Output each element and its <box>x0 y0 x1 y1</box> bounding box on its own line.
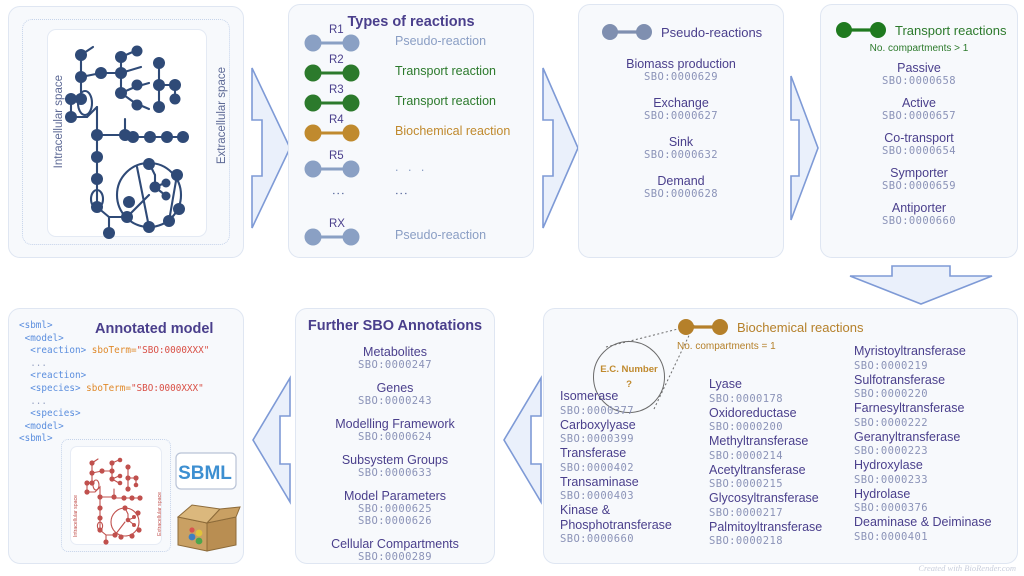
biochemical-reactions-header: Biochemical reactions <box>677 318 863 336</box>
biochemical-entry: PalmitoyltransferaseSBO:0000218 <box>709 520 869 549</box>
further-sbo-sbo-id: SBO:0000626 <box>296 515 494 527</box>
transport-reaction-term: Co-transport <box>821 131 1017 145</box>
biochemical-sbo-id: SBO:0000218 <box>709 534 869 548</box>
reaction-row-rx: RXPseudo-reaction <box>303 225 523 249</box>
transport-reaction-sbo-id: SBO:0000654 <box>821 145 1017 157</box>
xml-token: <model> <box>19 333 64 344</box>
further-sbo-entry: GenesSBO:0000243 <box>296 381 494 407</box>
panel-transport-reactions: Transport reactions No. compartments > 1… <box>820 4 1018 258</box>
mini-label-extracellular: Extracellular space <box>157 492 163 536</box>
biochemical-term: Methyltransferase <box>709 434 869 449</box>
reaction-type-label-r3: Transport reaction <box>395 94 496 108</box>
further-sbo-title: Further SBO Annotations <box>296 318 494 334</box>
reaction-node-icon-r3: R3 <box>303 93 361 113</box>
xml-token: <sbml> <box>19 433 53 444</box>
transport-reaction-term: Passive <box>821 61 1017 75</box>
pseudo-reactions-header: Pseudo-reactions <box>601 23 762 41</box>
biochemical-column-2: LyaseSBO:0000178OxidoreductaseSBO:000020… <box>709 377 869 548</box>
biochemical-entry: CarboxylyaseSBO:0000399 <box>560 418 710 447</box>
biochemical-reactions-header-label: Biochemical reactions <box>737 320 863 335</box>
biochemical-entry: HydroxylaseSBO:0000233 <box>854 458 1019 487</box>
label-extracellular-space: Extracellular space <box>216 67 228 164</box>
reaction-node-icon-r4: R4 <box>303 123 361 143</box>
reaction-type-label-r1: Pseudo-reaction <box>395 34 486 48</box>
reaction-id-rx: RX <box>329 218 345 230</box>
reaction-row-r4: R4Biochemical reaction <box>303 121 523 145</box>
biochemical-sbo-id: SBO:0000214 <box>709 449 869 463</box>
transport-reaction-sbo-id: SBO:0000658 <box>821 75 1017 87</box>
biochemical-term: Oxidoreductase <box>709 406 869 421</box>
biochemical-sbo-id: SBO:0000200 <box>709 420 869 434</box>
types-of-reactions-title: Types of reactions <box>289 14 533 30</box>
panel-pseudo-reactions: Pseudo-reactions Biomass productionSBO:0… <box>578 4 784 258</box>
xml-token: "SBO:0000XXX" <box>137 345 210 356</box>
biochemical-sbo-id: SBO:0000403 <box>560 489 710 503</box>
reaction-row-r2: R2Transport reaction <box>303 61 523 85</box>
biochemical-entry: TransferaseSBO:0000402 <box>560 446 710 475</box>
transport-reaction-entry: Co-transportSBO:0000654 <box>821 131 1017 157</box>
transport-reaction-entry: AntiporterSBO:0000660 <box>821 201 1017 227</box>
annotated-model-title: Annotated model <box>95 321 213 337</box>
reaction-type-label-r5: . . . <box>395 160 427 174</box>
xml-token: sboTerm= <box>86 345 136 356</box>
biochemical-entry: Deaminase & DeiminaseSBO:0000401 <box>854 515 1019 544</box>
transport-reaction-sbo-id: SBO:0000657 <box>821 110 1017 122</box>
xml-token: <model> <box>19 421 64 432</box>
pseudo-reaction-entry: ExchangeSBO:0000627 <box>579 96 783 122</box>
reaction-type-label-rx: Pseudo-reaction <box>395 228 486 242</box>
biochemical-sbo-id: SBO:0000233 <box>854 473 1019 487</box>
biochemical-entry: FarnesyltransferaseSBO:0000222 <box>854 401 1019 430</box>
biochemical-entry: HydrolaseSBO:0000376 <box>854 487 1019 516</box>
biochemical-entry: MethyltransferaseSBO:0000214 <box>709 434 869 463</box>
reaction-node-icon-r1: R1 <box>303 33 361 53</box>
mini-label-intracellular: Intracellular space <box>73 495 79 537</box>
biochemical-entry: OxidoreductaseSBO:0000200 <box>709 406 869 435</box>
pseudo-reaction-term: Sink <box>579 135 783 149</box>
biochemical-term: Sulfotransferase <box>854 373 1019 388</box>
biochemical-sbo-id: SBO:0000376 <box>854 501 1019 515</box>
panel-types-of-reactions: Types of reactions R1Pseudo-reactionR2Tr… <box>288 4 534 258</box>
biochemical-term: Transaminase <box>560 475 710 490</box>
biochemical-entry: Kinase &PhosphotransferaseSBO:0000660 <box>560 503 710 546</box>
transport-reactions-list: PassiveSBO:0000658ActiveSBO:0000657Co-tr… <box>821 61 1017 236</box>
transport-reaction-term: Antiporter <box>821 201 1017 215</box>
pseudo-reaction-sbo-id: SBO:0000628 <box>579 188 783 200</box>
xml-token: ... <box>19 396 47 407</box>
reaction-id-r3: R3 <box>329 84 344 96</box>
package-box-icon <box>172 497 242 555</box>
biochemical-sbo-id: SBO:0000223 <box>854 444 1019 458</box>
biochemical-term: Transferase <box>560 446 710 461</box>
biochemical-term: Carboxylyase <box>560 418 710 433</box>
reaction-id-r1: R1 <box>329 24 344 36</box>
xml-token: <reaction> <box>19 345 86 356</box>
biochemical-entry: TransaminaseSBO:0000403 <box>560 475 710 504</box>
biochemical-term: Geranyltransferase <box>854 430 1019 445</box>
biochemical-sbo-id: SBO:0000399 <box>560 432 710 446</box>
biochemical-sbo-id: SBO:0000660 <box>560 532 710 546</box>
biochemical-reaction-node-icon <box>677 318 729 336</box>
transport-reactions-header: Transport reactions <box>835 21 1007 39</box>
further-sbo-sbo-id: SBO:0000247 <box>296 359 494 371</box>
biochemical-sbo-id: SBO:0000377 <box>560 404 710 418</box>
biochemical-entry: GeranyltransferaseSBO:0000223 <box>854 430 1019 459</box>
xml-token: sboTerm= <box>81 383 131 394</box>
pseudo-reaction-entry: Biomass productionSBO:0000629 <box>579 57 783 83</box>
pseudo-reaction-sbo-id: SBO:0000632 <box>579 149 783 161</box>
further-sbo-sbo-id: SBO:0000633 <box>296 467 494 479</box>
biochemical-column-3: MyristoyltransferaseSBO:0000219Sulfotran… <box>854 344 1019 544</box>
biochemical-entry: AcetyltransferaseSBO:0000215 <box>709 463 869 492</box>
biochemical-sbo-id: SBO:0000215 <box>709 477 869 491</box>
biochemical-term: Palmitoyltransferase <box>709 520 869 535</box>
label-intracellular-space: Intracellular space <box>53 75 65 168</box>
biochemical-sbo-id: SBO:0000178 <box>709 392 869 406</box>
vertical-ellipsis-labels: ⋮ <box>394 187 409 201</box>
panel-biochemical-reactions: E.C. Number ? Biochemical reactions No. … <box>543 308 1018 564</box>
reaction-row-r5: R5. . . <box>303 157 523 181</box>
transport-reaction-term: Active <box>821 96 1017 110</box>
reaction-node-icon-rx: RX <box>303 227 361 247</box>
sbml-code-block: <sbml> <model> <reaction> sboTerm="SBO:0… <box>19 320 209 446</box>
further-sbo-term: Cellular Compartments <box>296 537 494 551</box>
further-sbo-term: Genes <box>296 381 494 395</box>
metabolic-network-graph <box>9 7 245 259</box>
vertical-ellipsis-glyphs: ⋮ <box>331 187 346 201</box>
pseudo-reactions-list: Biomass productionSBO:0000629ExchangeSBO… <box>579 57 783 213</box>
biochemical-entry: LyaseSBO:0000178 <box>709 377 869 406</box>
biochemical-term: Lyase <box>709 377 869 392</box>
transport-reaction-entry: SymporterSBO:0000659 <box>821 166 1017 192</box>
xml-token: <species> <box>19 408 81 419</box>
transport-reaction-term: Symporter <box>821 166 1017 180</box>
further-sbo-list: MetabolitesSBO:0000247GenesSBO:0000243Mo… <box>296 345 494 573</box>
biochemical-entry: GlycosyltransferaseSBO:0000217 <box>709 491 869 520</box>
diagram-canvas: Intracellular space Extracellular space … <box>0 0 1024 576</box>
panel-further-sbo-annotations: Further SBO Annotations MetabolitesSBO:0… <box>295 308 495 564</box>
biochemical-term: Kinase & <box>560 503 710 518</box>
reaction-type-label-r2: Transport reaction <box>395 64 496 78</box>
transport-reactions-header-label: Transport reactions <box>895 23 1007 38</box>
reaction-id-r5: R5 <box>329 150 344 162</box>
reaction-type-label-r4: Biochemical reaction <box>395 124 510 138</box>
biorender-watermark: Created with BioRender.com <box>918 563 1016 573</box>
further-sbo-sbo-id: SBO:0000625 <box>296 503 494 515</box>
biochemical-term: Hydroxylase <box>854 458 1019 473</box>
biochemical-term: Myristoyltransferase <box>854 344 1019 359</box>
pseudo-reaction-term: Biomass production <box>579 57 783 71</box>
arrow-types-to-pseudo <box>540 58 580 238</box>
pseudo-reactions-header-label: Pseudo-reactions <box>661 25 762 40</box>
arrow-biochemical-to-further <box>500 372 544 508</box>
further-sbo-entry: Subsystem GroupsSBO:0000633 <box>296 453 494 479</box>
biochemical-compartment-note: No. compartments = 1 <box>677 341 776 352</box>
sbml-logo-text: SBML <box>178 463 232 484</box>
transport-reaction-entry: PassiveSBO:0000658 <box>821 61 1017 87</box>
biochemical-term: Farnesyltransferase <box>854 401 1019 416</box>
further-sbo-term: Model Parameters <box>296 489 494 503</box>
transport-reaction-sbo-id: SBO:0000659 <box>821 180 1017 192</box>
xml-token: <reaction> <box>19 370 86 381</box>
arrow-pseudo-to-transport <box>788 58 820 238</box>
biochemical-term: Isomerase <box>560 389 710 404</box>
further-sbo-term: Subsystem Groups <box>296 453 494 467</box>
panel-annotated-model: <sbml> <model> <reaction> sboTerm="SBO:0… <box>8 308 244 564</box>
biochemical-term: Acetyltransferase <box>709 463 869 478</box>
pseudo-reaction-entry: SinkSBO:0000632 <box>579 135 783 161</box>
biochemical-term: Deaminase & Deiminase <box>854 515 1019 530</box>
reaction-node-icon-r5: R5 <box>303 159 361 179</box>
xml-token: <sbml> <box>19 320 53 331</box>
xml-token: <species> <box>19 383 81 394</box>
further-sbo-sbo-id: SBO:0000243 <box>296 395 494 407</box>
reaction-id-r4: R4 <box>329 114 344 126</box>
biochemical-term: Hydrolase <box>854 487 1019 502</box>
xml-token: ... <box>19 358 47 369</box>
pseudo-reaction-term: Exchange <box>579 96 783 110</box>
further-sbo-term: Modelling Framework <box>296 417 494 431</box>
further-sbo-entry: Modelling FrameworkSBO:0000624 <box>296 417 494 443</box>
pseudo-reaction-sbo-id: SBO:0000629 <box>579 71 783 83</box>
mini-metabolic-network-graph <box>70 446 162 545</box>
biochemical-sbo-id: SBO:0000222 <box>854 416 1019 430</box>
biochemical-sbo-id: SBO:0000217 <box>709 506 869 520</box>
ec-number-label: E.C. Number <box>593 364 665 375</box>
pseudo-reaction-term: Demand <box>579 174 783 188</box>
pseudo-reaction-node-icon <box>601 23 653 41</box>
arrow-network-to-types <box>248 58 292 238</box>
biochemical-sbo-id: SBO:0000219 <box>854 359 1019 373</box>
biochemical-entry: IsomeraseSBO:0000377 <box>560 389 710 418</box>
biochemical-column-1: IsomeraseSBO:0000377CarboxylyaseSBO:0000… <box>560 389 710 546</box>
arrow-transport-to-biochemical <box>840 262 1000 308</box>
reaction-id-r2: R2 <box>329 54 344 66</box>
further-sbo-entry: Cellular CompartmentsSBO:0000289 <box>296 537 494 563</box>
panel-metabolic-network: Intracellular space Extracellular space <box>8 6 244 258</box>
sbml-logo-icon: SBML <box>175 452 237 490</box>
reaction-node-icon-r2: R2 <box>303 63 361 83</box>
biochemical-sbo-id: SBO:0000220 <box>854 387 1019 401</box>
biochemical-term: Glycosyltransferase <box>709 491 869 506</box>
xml-token: "SBO:0000XXX" <box>131 383 204 394</box>
biochemical-term: Phosphotransferase <box>560 518 710 533</box>
arrow-further-to-annotated-model <box>249 372 293 508</box>
pseudo-reaction-sbo-id: SBO:0000627 <box>579 110 783 122</box>
biochemical-sbo-id: SBO:0000402 <box>560 461 710 475</box>
transport-reaction-sbo-id: SBO:0000660 <box>821 215 1017 227</box>
biochemical-entry: SulfotransferaseSBO:0000220 <box>854 373 1019 402</box>
further-sbo-sbo-id: SBO:0000624 <box>296 431 494 443</box>
transport-reaction-entry: ActiveSBO:0000657 <box>821 96 1017 122</box>
further-sbo-entry: Model ParametersSBO:0000625SBO:0000626 <box>296 489 494 527</box>
transport-compartment-note: No. compartments > 1 <box>821 43 1017 54</box>
reaction-row-r1: R1Pseudo-reaction <box>303 31 523 55</box>
reaction-row-r3: R3Transport reaction <box>303 91 523 115</box>
further-sbo-sbo-id: SBO:0000289 <box>296 551 494 563</box>
further-sbo-term: Metabolites <box>296 345 494 359</box>
further-sbo-entry: MetabolitesSBO:0000247 <box>296 345 494 371</box>
transport-reaction-node-icon <box>835 21 887 39</box>
pseudo-reaction-entry: DemandSBO:0000628 <box>579 174 783 200</box>
biochemical-entry: MyristoyltransferaseSBO:0000219 <box>854 344 1019 373</box>
biochemical-sbo-id: SBO:0000401 <box>854 530 1019 544</box>
